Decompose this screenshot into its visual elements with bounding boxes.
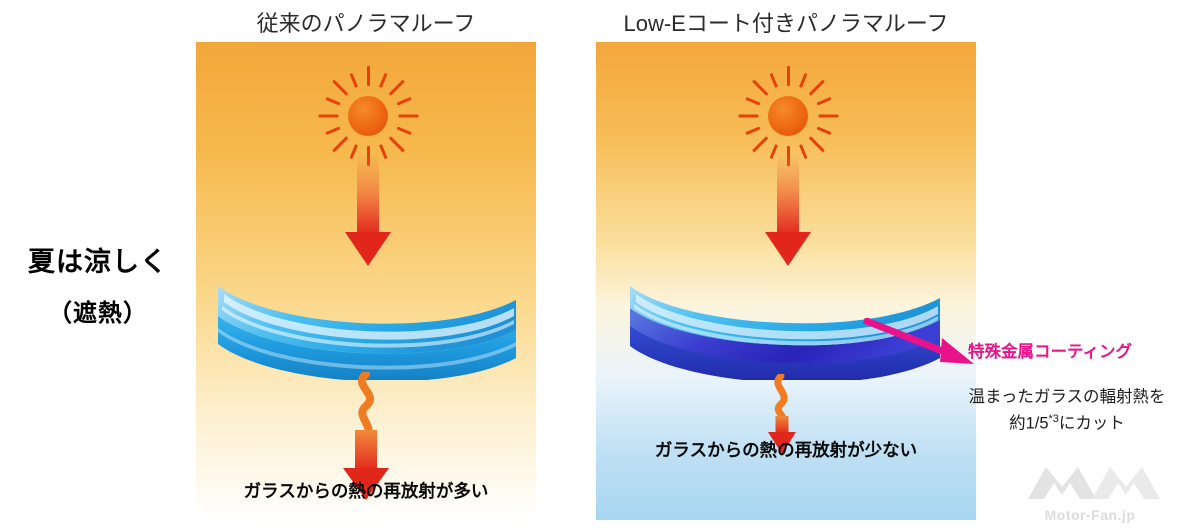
sun-ray [817,126,832,135]
glass-panel [214,258,522,380]
sun-ray [367,66,370,86]
sun-ray [397,126,412,135]
sun-ray [325,97,340,106]
panel-title-conventional: 従来のパノラマルーフ [196,6,536,38]
sun-ray [770,73,779,88]
sun-ray [379,73,388,88]
left-caption-line2: （遮熱） [8,293,188,328]
bottom-label-conventional: ガラスからの熱の再放射が多い [196,478,536,503]
sun-ray [325,126,340,135]
left-caption: 夏は涼しく （遮熱） [8,240,188,328]
effect-line2: 約1/5*3にカット [960,411,1174,437]
effect-value: 約1/5 [1009,414,1048,432]
sun-ray [397,97,412,106]
sun-ray [787,66,790,86]
sun-ray [745,126,760,135]
coating-annotation: 特殊金属コーティング [968,338,1174,362]
effect-annotation: 温まったガラスの輻射熱を 約1/5*3にカット [960,385,1174,437]
sun-icon [740,68,836,164]
left-caption-line1: 夏は涼しく [8,240,188,279]
sun-ray [752,136,768,152]
sun-ray [332,136,348,152]
coating-pointer-arrow [862,318,976,374]
sun-ray [819,115,839,118]
sun-ray [389,136,405,152]
bottom-label-lowe: ガラスからの熱の再放射が少ない [596,437,976,462]
sun-ray [817,97,832,106]
panel-title-lowe: Low-Eコート付きパノラマルーフ [596,6,976,38]
effect-line1: 温まったガラスの輻射熱を [960,385,1174,411]
sun-ray [809,136,825,152]
sun-ray [350,73,359,88]
sun-ray [809,80,825,96]
diagram-stage: 夏は涼しく （遮熱） 従来のパノラマルーフ Low-Eコート付きパノラマルーフ [0,0,1178,529]
sun-ray [319,115,339,118]
sun-core [348,96,388,136]
sun-icon [320,68,416,164]
sun-ray [399,115,419,118]
sun-ray [389,80,405,96]
effect-suffix: にカット [1059,414,1125,432]
effect-footnote-marker: *3 [1049,413,1059,425]
sun-ray [332,80,348,96]
sun-ray [752,80,768,96]
sun-ray [799,73,808,88]
panel-conventional [196,42,536,520]
solar-arrow-incoming [346,154,390,266]
sun-ray [745,97,760,106]
glass-svg [214,258,522,380]
solar-arrow-incoming [766,154,810,266]
mf-logo-icon [1012,461,1168,505]
sun-ray [739,115,759,118]
watermark-text: Motor-Fan.jp [1012,507,1168,523]
watermark: Motor-Fan.jp [1012,461,1168,523]
sun-core [768,96,808,136]
